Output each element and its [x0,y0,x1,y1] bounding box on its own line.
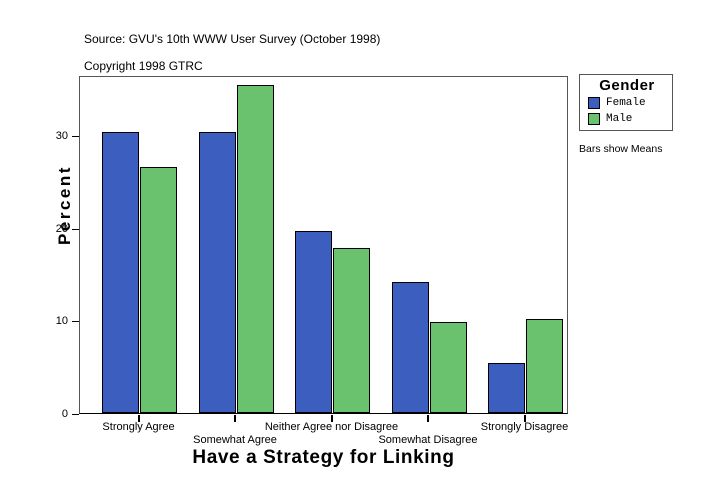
chart-canvas: Source: GVU's 10th WWW User Survey (Octo… [0,0,724,502]
x-tick-label: Somewhat Disagree [378,434,477,446]
x-tick-label: Neither Agree nor Disagree [265,421,398,433]
y-tick-label: 10 [38,316,68,327]
y-tick-mark [72,414,79,415]
x-axis-title: Have a Strategy for Linking [79,447,568,469]
bar [295,231,332,413]
legend-swatch-male [588,113,600,125]
legend: Gender FemaleMale [579,74,673,131]
plot-area [79,76,568,414]
bar [140,167,177,413]
bar [237,85,274,413]
source-caption: Source: GVU's 10th WWW User Survey (Octo… [84,32,380,46]
bars-layer [80,77,567,413]
legend-item-label: Male [606,112,632,126]
bar [333,248,370,413]
x-tick-label: Strongly Agree [102,421,174,433]
x-tick-label: Somewhat Agree [193,434,277,446]
bar [392,282,429,413]
legend-item-label: Female [606,96,646,110]
y-tick-mark [72,321,79,322]
bar [430,322,467,413]
legend-note: Bars show Means [579,143,689,155]
bar [488,363,525,413]
legend-title: Gender [580,77,674,94]
bar [102,132,139,413]
x-tick-mark [427,415,429,422]
x-tick-mark [234,415,236,422]
x-tick-label: Strongly Disagree [481,421,568,433]
legend-swatch-female [588,97,600,109]
bar [526,319,563,413]
bar [199,132,236,413]
y-tick-label: 0 [38,409,68,420]
copyright-caption: Copyright 1998 GTRC [84,59,203,73]
y-axis-title: Percent [55,135,75,275]
